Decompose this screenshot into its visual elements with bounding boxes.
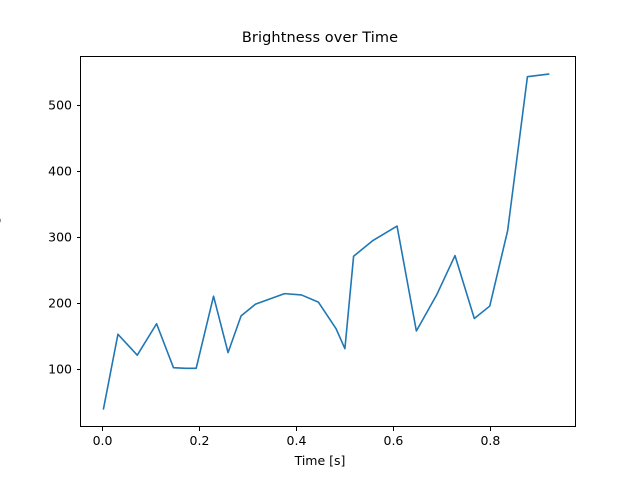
- line-plot-svg: [81, 57, 575, 426]
- y-axis-label: Brightness: [0, 174, 1, 241]
- x-tick-label: 0.8: [460, 433, 520, 448]
- y-tick-label: 500: [12, 98, 72, 113]
- brightness-line-series: [103, 74, 548, 409]
- chart-figure: Brightness over Time 100200300400500 0.0…: [0, 0, 640, 480]
- chart-title: Brightness over Time: [0, 30, 640, 46]
- x-tick-label: 0.6: [363, 433, 423, 448]
- y-tick-mark: [77, 105, 81, 106]
- y-tick-mark: [77, 171, 81, 172]
- y-tick-label: 300: [12, 230, 72, 245]
- y-tick-label: 400: [12, 164, 72, 179]
- x-axis-label: Time [s]: [0, 453, 640, 468]
- y-tick-mark: [77, 369, 81, 370]
- x-tick-mark: [199, 427, 200, 431]
- y-tick-mark: [77, 237, 81, 238]
- x-tick-mark: [102, 427, 103, 431]
- y-tick-label: 100: [12, 362, 72, 377]
- y-tick-mark: [77, 303, 81, 304]
- x-tick-label: 0.4: [266, 433, 326, 448]
- y-tick-label: 200: [12, 296, 72, 311]
- x-tick-label: 0.2: [170, 433, 230, 448]
- x-tick-label: 0.0: [73, 433, 133, 448]
- x-tick-mark: [490, 427, 491, 431]
- x-tick-mark: [393, 427, 394, 431]
- x-tick-mark: [296, 427, 297, 431]
- plot-area: [80, 56, 576, 427]
